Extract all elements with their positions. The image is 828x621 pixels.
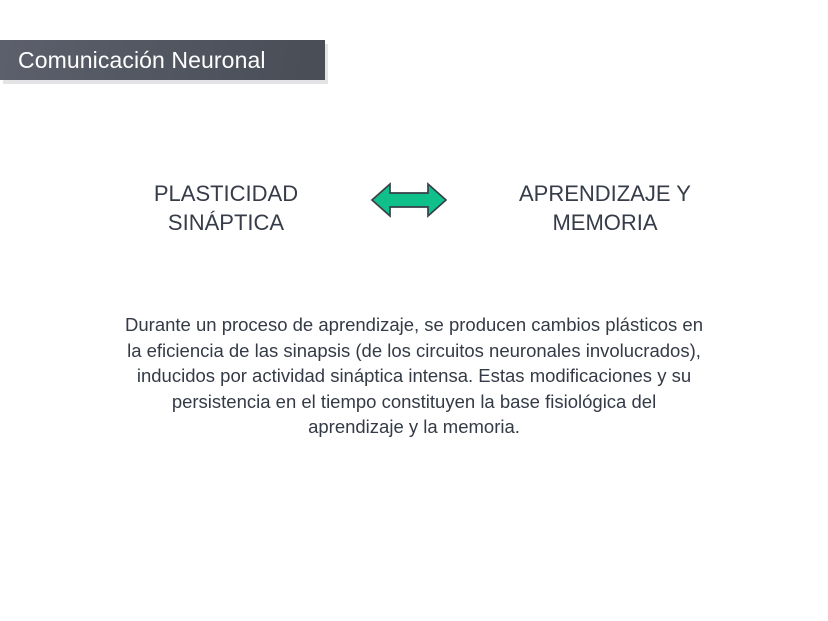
body-paragraph: Durante un proceso de aprendizaje, se pr… xyxy=(94,312,734,440)
paragraph-line: la eficiencia de las sinapsis (de los ci… xyxy=(94,338,734,364)
concept-label-plasticidad-sinaptica: PLASTICIDAD SINÁPTICA xyxy=(96,179,356,237)
double-arrow-shape xyxy=(372,184,446,216)
concept-label-aprendizaje-y-memoria: APRENDIZAJE Y MEMORIA xyxy=(475,179,735,237)
double-arrow-svg xyxy=(369,180,449,220)
paragraph-line: Durante un proceso de aprendizaje, se pr… xyxy=(94,312,734,338)
paragraph-line: inducidos por actividad sináptica intens… xyxy=(94,363,734,389)
slide-title-text: Comunicación Neuronal xyxy=(18,49,266,72)
concept-left-line1: PLASTICIDAD xyxy=(154,181,298,206)
bidirectional-arrow-icon xyxy=(369,180,449,220)
concept-right-line1: APRENDIZAJE Y xyxy=(519,181,691,206)
paragraph-line: persistencia en el tiempo constituyen la… xyxy=(94,389,734,415)
concept-left-line2: SINÁPTICA xyxy=(168,210,284,235)
concept-right-line2: MEMORIA xyxy=(552,210,657,235)
paragraph-line: aprendizaje y la memoria. xyxy=(94,414,734,440)
slide-title-bar: Comunicación Neuronal xyxy=(0,40,325,80)
slide-canvas: Comunicación Neuronal PLASTICIDAD SINÁPT… xyxy=(0,0,828,621)
